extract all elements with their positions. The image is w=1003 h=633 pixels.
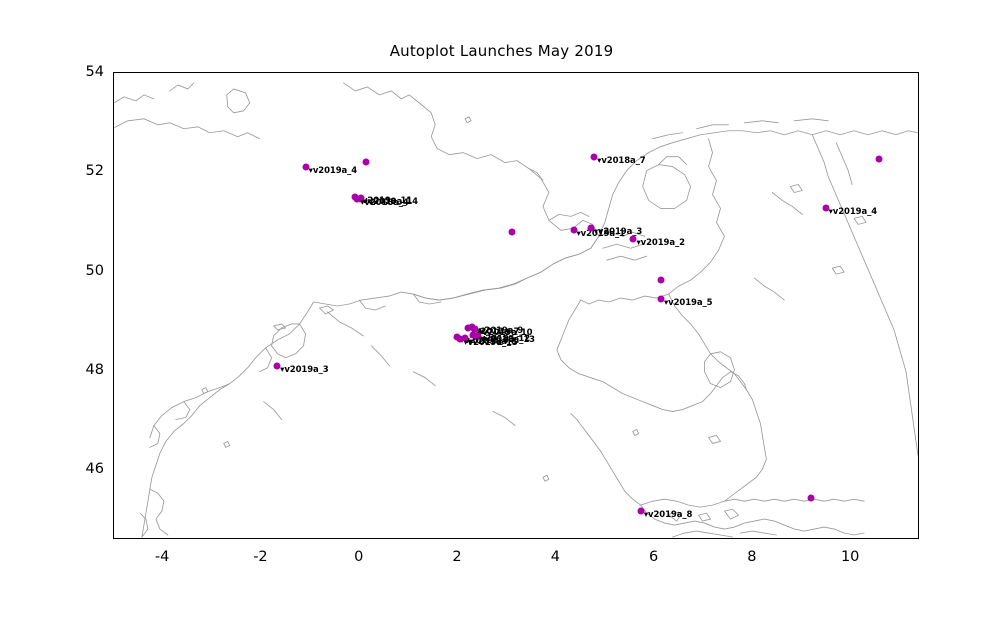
axis-tick-label: 6 xyxy=(649,549,658,565)
axis-tick-label: 2 xyxy=(452,549,461,565)
axis-tick-label: 8 xyxy=(747,549,756,565)
axis-tick-label: -2 xyxy=(253,549,267,565)
page-title: Autoplot Launches May 2019 xyxy=(0,42,1003,60)
axis-tick-label: 50 xyxy=(86,263,104,279)
axis-tick-label: 10 xyxy=(841,549,859,565)
axis-tick-label: -4 xyxy=(155,549,169,565)
axis-tick-label: 0 xyxy=(354,549,363,565)
axis-ticklabels-layer: 4648505254-4-20246810 xyxy=(113,72,919,539)
axis-tick-label: 46 xyxy=(86,461,104,477)
axis-tick-label: 48 xyxy=(86,362,104,378)
axis-tick-label: 52 xyxy=(86,163,104,179)
matplotlib-figure: Autoplot Launches May 2019 xyxy=(0,0,1003,633)
axis-tick-label: 4 xyxy=(551,549,560,565)
axis-tick-label: 54 xyxy=(86,64,104,80)
